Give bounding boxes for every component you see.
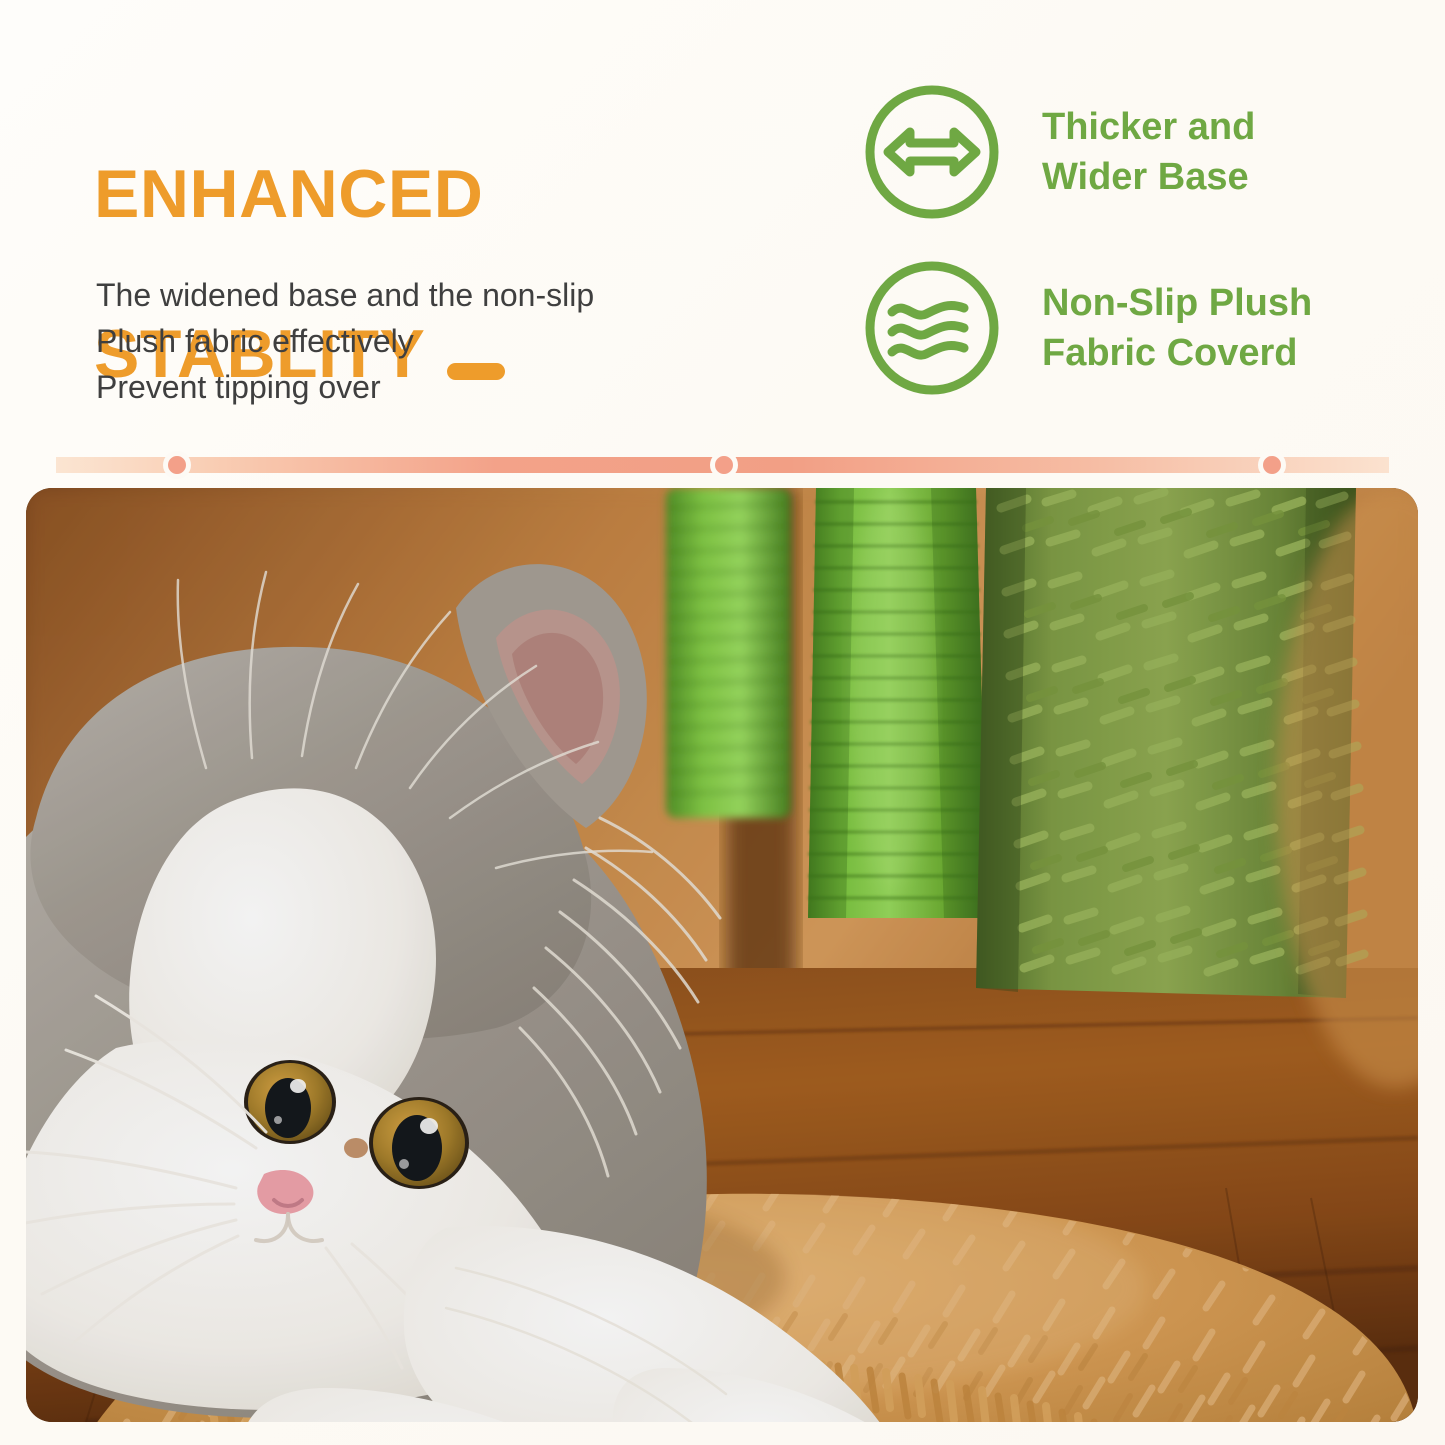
- divider-dot: [1258, 451, 1286, 479]
- description-line-3: Prevent tipping over: [96, 364, 756, 410]
- feature-item-non-slip-plush-fabric: Non-Slip Plush Fabric Coverd: [862, 256, 1382, 400]
- wavy-lines-icon: [862, 258, 1002, 398]
- description-line-2: Plush fabric effectively: [96, 318, 756, 364]
- feature-label: Non-Slip Plush Fabric Coverd: [1042, 278, 1312, 378]
- infographic-page: ENHANCED STABLITY The widened base and t…: [0, 0, 1445, 1445]
- product-photo-illustration: [26, 488, 1418, 1422]
- description-line-1: The widened base and the non-slip: [96, 272, 756, 318]
- feature-list: Thicker and Wider Base Non-Slip Plush Fa…: [862, 80, 1382, 432]
- feature-item-thicker-wider-base: Thicker and Wider Base: [862, 80, 1382, 224]
- divider-dot: [710, 451, 738, 479]
- page-description: The widened base and the non-slip Plush …: [96, 272, 756, 410]
- divider-dot: [163, 451, 191, 479]
- headline-line-1: ENHANCED: [94, 154, 734, 234]
- section-divider: [0, 445, 1445, 485]
- feature-label: Thicker and Wider Base: [1042, 102, 1255, 202]
- horizontal-double-arrow-icon: [862, 82, 1002, 222]
- product-photo: [26, 488, 1418, 1422]
